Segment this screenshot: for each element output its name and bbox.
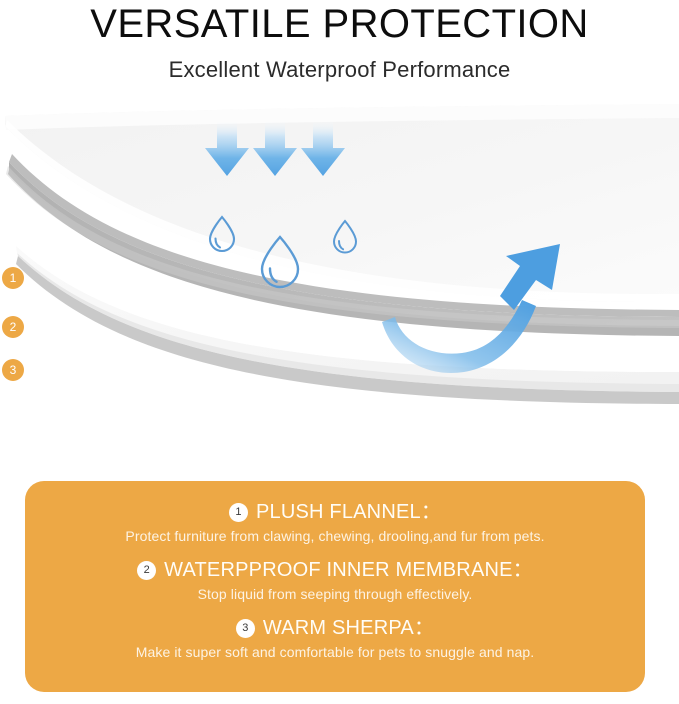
feature-description: Make it super soft and comfortable for p… [25,643,645,661]
page-title: VERSATILE PROTECTION [0,0,679,46]
feature-item-waterproof-membrane: 2 WATERPPROOF INNER MEMBRANE： Stop liqui… [25,558,645,603]
feature-title: WARM SHERPA： [263,616,434,640]
page-subtitle: Excellent Waterproof Performance [0,46,679,83]
feature-heading: 1 PLUSH FLANNEL： [25,500,645,524]
feature-number-badge-3: 3 [236,619,255,638]
layer-badge-2: 2 [2,316,24,338]
feature-description: Stop liquid from seeping through effecti… [25,585,645,603]
feature-item-warm-sherpa: 3 WARM SHERPA： Make it super soft and co… [25,616,645,661]
down-arrow-icon-group [205,120,345,176]
feature-number-badge-2: 2 [137,561,156,580]
layer-badge-1: 1 [2,267,24,289]
layer-diagram-illustration [0,104,679,456]
feature-number-badge-1: 1 [229,503,248,522]
layer-badge-3: 3 [2,359,24,381]
feature-title: PLUSH FLANNEL： [256,500,441,524]
feature-heading: 3 WARM SHERPA： [25,616,645,640]
header: VERSATILE PROTECTION Excellent Waterproo… [0,0,679,83]
feature-heading: 2 WATERPPROOF INNER MEMBRANE： [25,558,645,582]
feature-description: Protect furniture from clawing, chewing,… [25,527,645,545]
feature-title: WATERPPROOF INNER MEMBRANE： [164,558,533,582]
feature-panel: 1 PLUSH FLANNEL： Protect furniture from … [25,481,645,692]
feature-item-plush-flannel: 1 PLUSH FLANNEL： Protect furniture from … [25,500,645,545]
layer-diagram: 1 2 3 [0,104,679,456]
